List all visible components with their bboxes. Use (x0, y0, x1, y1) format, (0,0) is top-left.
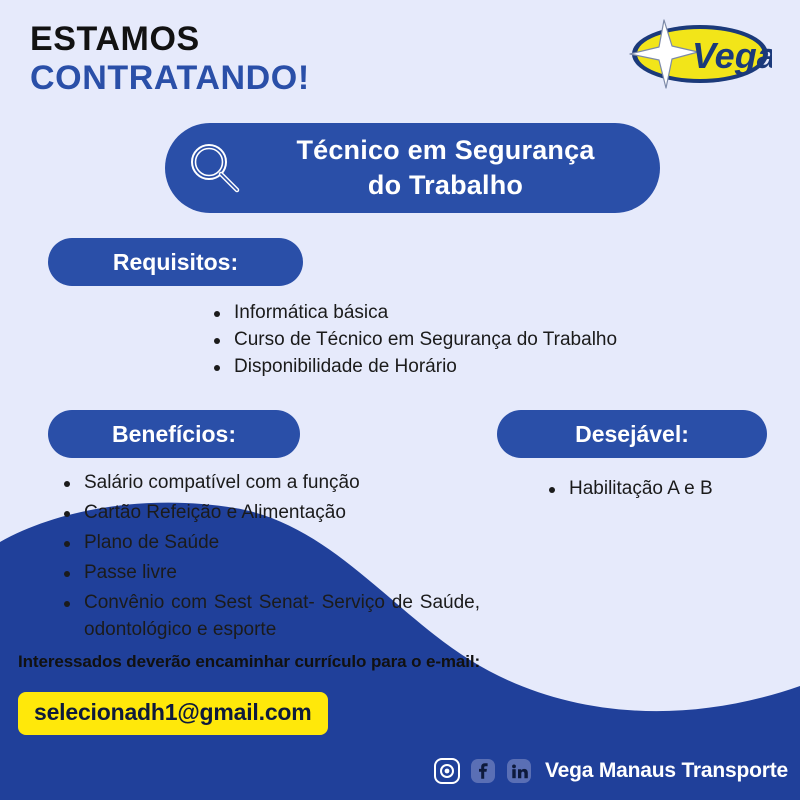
job-title-pill: Técnico em Segurança do Trabalho (165, 123, 660, 213)
page-title: ESTAMOS CONTRATANDO! (30, 22, 310, 95)
headline-line-2: CONTRATANDO! (30, 61, 310, 96)
social-links (433, 757, 533, 785)
vega-logo: Vega (624, 16, 772, 92)
list-item: Habilitação A e B (545, 476, 785, 503)
section-header-requisitos: Requisitos: (48, 238, 303, 286)
list-item: Plano de Saúde (60, 530, 480, 557)
company-name: Vega Manaus Transporte (545, 759, 788, 783)
section-header-desejavel: Desejável: (497, 410, 767, 458)
list-item: Convênio com Sest Senat- Serviço de Saúd… (60, 590, 480, 644)
facebook-icon[interactable] (469, 757, 497, 785)
email-address[interactable]: selecionadh1@gmail.com (18, 692, 328, 735)
magnifier-icon (183, 136, 247, 200)
beneficios-list: Salário compatível com a função Cartão R… (60, 470, 480, 647)
job-title-text: Técnico em Segurança do Trabalho (253, 133, 660, 203)
job-title-line-2: do Trabalho (368, 170, 523, 200)
requisitos-list: Informática básica Curso de Técnico em S… (210, 300, 690, 381)
cta-instruction: Interessados deverão encaminhar currícul… (18, 652, 480, 672)
desejavel-list: Habilitação A e B (545, 476, 785, 503)
list-item: Passe livre (60, 560, 480, 587)
list-item: Disponibilidade de Horário (210, 354, 690, 381)
instagram-icon[interactable] (433, 757, 461, 785)
section-header-beneficios: Benefícios: (48, 410, 300, 458)
list-item: Informática básica (210, 300, 690, 327)
headline-line-1: ESTAMOS (30, 22, 310, 57)
list-item: Salário compatível com a função (60, 470, 480, 497)
list-item: Curso de Técnico em Segurança do Trabalh… (210, 327, 690, 354)
linkedin-icon[interactable] (505, 757, 533, 785)
footer-bar: Vega Manaus Transporte (0, 750, 800, 792)
job-posting-poster: ESTAMOS CONTRATANDO! Vega Técnico em Seg… (0, 0, 800, 800)
job-title-line-1: Técnico em Segurança (296, 135, 594, 165)
list-item: Cartão Refeição e Alimentação (60, 500, 480, 527)
svg-text:Vega: Vega (692, 35, 772, 76)
